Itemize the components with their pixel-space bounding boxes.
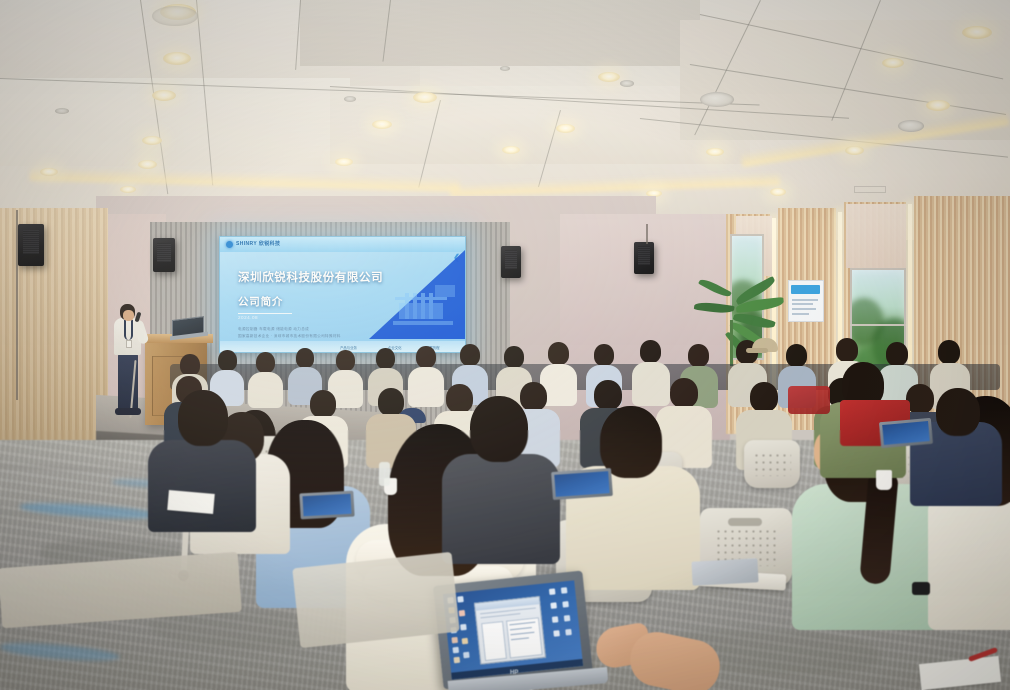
red-bag	[788, 386, 830, 414]
downlight	[142, 136, 162, 145]
downlight	[335, 158, 353, 166]
audience-head	[670, 378, 698, 408]
paper-cup	[876, 470, 892, 490]
wall-speaker	[18, 224, 44, 266]
speaker-cable	[16, 210, 18, 400]
downlight	[598, 72, 620, 82]
desktop-icon[interactable]	[562, 601, 569, 608]
desktop-icon[interactable]	[564, 615, 571, 622]
desktop-icon[interactable]	[460, 624, 467, 631]
downlight	[926, 100, 950, 111]
hp-logo-text: HP	[510, 670, 518, 676]
attendee-head	[470, 396, 528, 462]
downlight	[706, 148, 724, 156]
desktop-icon[interactable]	[451, 637, 458, 644]
slide-product-artwork	[389, 279, 461, 331]
audience-head	[750, 382, 778, 412]
attendee-head	[936, 388, 980, 436]
audience-head	[310, 390, 336, 418]
ceiling-vent	[854, 186, 886, 193]
attendee-torso	[148, 440, 256, 532]
laptop-screen[interactable]	[443, 580, 583, 679]
slide-date: 2024.08	[238, 315, 258, 320]
desktop-icon[interactable]	[463, 652, 470, 659]
ceiling-sensor-icon	[620, 80, 634, 87]
attendee-laptop[interactable]	[300, 492, 358, 522]
desktop-icon[interactable]	[561, 587, 568, 594]
slide-title: 深圳欣锐科技股份有限公司	[238, 269, 383, 285]
desk-surface	[292, 552, 459, 648]
window-mullion	[850, 324, 906, 326]
downlight	[152, 90, 176, 101]
downlight	[120, 186, 136, 193]
downlight	[138, 160, 157, 169]
handout-paper	[167, 490, 215, 514]
attendee-head	[178, 390, 228, 446]
desktop-icon[interactable]	[553, 630, 560, 637]
presenter-shoes	[115, 408, 141, 415]
slide-subtitle: 公司简介	[238, 294, 283, 309]
desktop-icon[interactable]	[462, 638, 469, 645]
company-logo-text: SHINRY 欣锐科技	[236, 240, 280, 247]
desktop-icon[interactable]	[459, 610, 466, 617]
desktop-icon[interactable]	[454, 657, 461, 664]
wall-speaker	[501, 246, 521, 278]
ceiling-sensor-icon	[55, 108, 69, 114]
poster-header-band	[791, 285, 820, 294]
wall-speaker	[153, 238, 175, 272]
downlight	[845, 146, 864, 155]
seat-handle	[728, 518, 762, 526]
downlight	[502, 146, 520, 154]
conference-room-photo: SHINRY 欣锐科技 ❮ 深圳欣锐科技股份有限公司 公司简介 2024.08 …	[0, 0, 1010, 690]
ceiling-speaker-icon	[700, 92, 734, 107]
desktop-icon[interactable]	[552, 616, 559, 623]
desktop-icon[interactable]	[457, 596, 464, 603]
wrist-watch	[912, 582, 930, 595]
desktop-icon[interactable]	[549, 588, 556, 595]
attendee-grey-tee	[438, 396, 568, 556]
company-logo-icon	[226, 241, 233, 248]
water-bottle	[379, 462, 390, 486]
ceiling-speaker-icon	[152, 6, 198, 26]
slide-divider	[238, 313, 292, 314]
downlight	[40, 168, 58, 176]
presenter-badge	[126, 340, 132, 348]
dialog-list-panel[interactable]	[481, 621, 507, 661]
desktop-icon[interactable]	[452, 647, 459, 654]
foreground-laptop[interactable]: HP	[438, 578, 610, 690]
presenter-face	[123, 310, 134, 321]
presenter-lanyard	[124, 320, 133, 340]
attendee-torso	[442, 454, 560, 564]
downlight	[556, 124, 575, 133]
downlight	[882, 58, 904, 68]
ceiling-sensor-icon	[500, 66, 510, 71]
downlight	[770, 188, 786, 196]
attendee-laptop[interactable]	[552, 470, 616, 504]
window-blind	[846, 204, 906, 268]
attendee-navy-polo	[930, 392, 1010, 502]
ceiling-speaker-icon	[898, 120, 924, 132]
desktop-icon[interactable]	[565, 629, 572, 636]
wall-poster	[788, 280, 824, 322]
downlight	[163, 52, 191, 65]
ceiling-sensor-icon	[344, 96, 356, 102]
laptop-dialog-window[interactable]	[474, 596, 546, 665]
speaker-cable	[646, 224, 648, 244]
attendee-laptop[interactable]	[880, 420, 936, 450]
audience-head	[378, 388, 404, 416]
downlight	[413, 92, 437, 103]
attendee-laptop[interactable]	[692, 560, 762, 588]
downlight	[372, 120, 392, 129]
downlight	[962, 26, 992, 39]
desktop-icon[interactable]	[550, 602, 557, 609]
wall-speaker	[634, 242, 654, 274]
